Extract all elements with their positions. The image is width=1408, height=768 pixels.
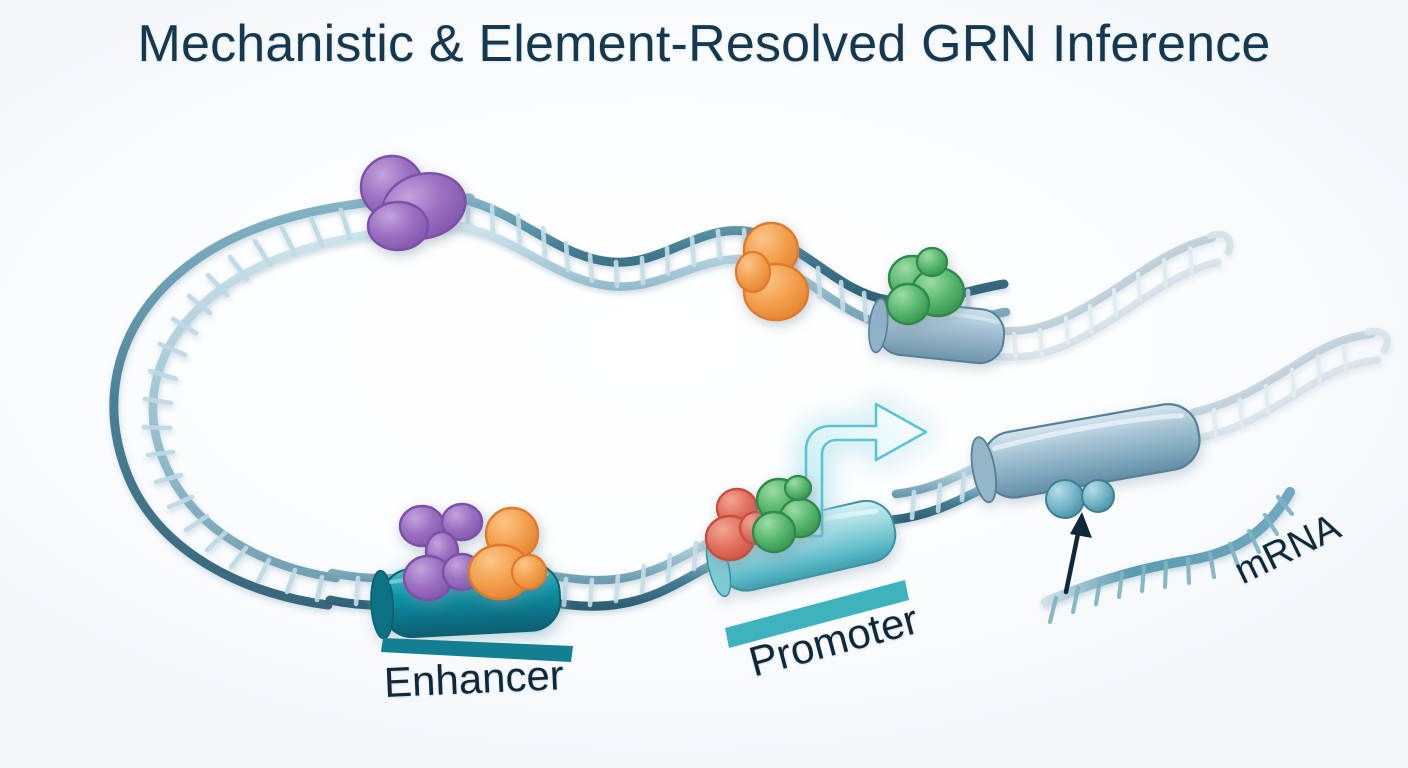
transcription-factor-purple-top[interactable]: [361, 156, 472, 250]
dna-mid-lower-strand: [892, 462, 986, 520]
transcription-factor-orange-upper[interactable]: [736, 223, 808, 320]
diagram-canvas: Mechanistic & Element-Resolved GRN Infer…: [0, 0, 1408, 768]
grn-illustration: [0, 0, 1408, 768]
transcription-factor-purple-enhancer[interactable]: [400, 504, 482, 600]
transcription-factor-green-genebody[interactable]: [887, 248, 964, 324]
dna-right-fade: [1194, 331, 1387, 438]
dna-upper-fade: [990, 234, 1230, 360]
enhancer-label: Enhancer: [383, 651, 565, 707]
translation-pointer-arrow: [1066, 512, 1092, 592]
